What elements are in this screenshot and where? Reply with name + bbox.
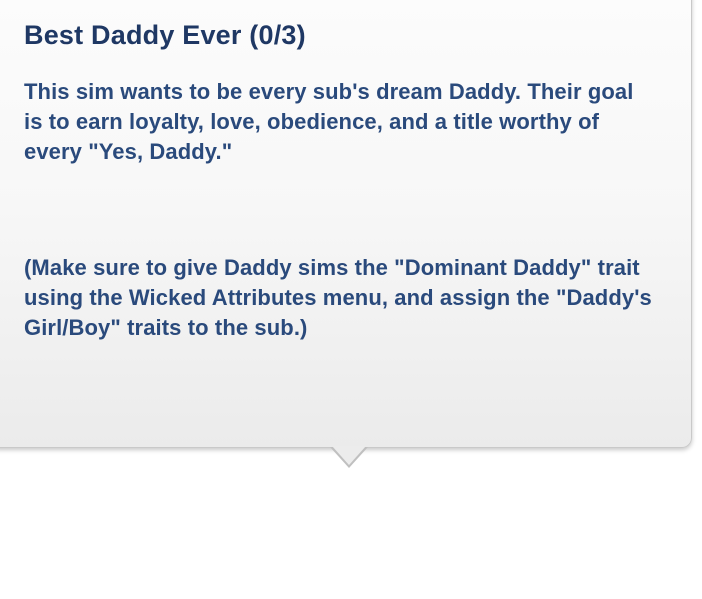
achievement-tooltip: Best Daddy Ever (0/3) This sim wants to … (0, 0, 692, 448)
tooltip-title: Best Daddy Ever (0/3) (24, 20, 657, 51)
tooltip-spacer (24, 167, 657, 253)
tooltip-description: This sim wants to be every sub's dream D… (24, 77, 657, 167)
tooltip-note: (Make sure to give Daddy sims the "Domin… (24, 253, 657, 343)
screen-root: Best Daddy Ever Best Daddy Ever (0/3) Th… (0, 0, 702, 599)
tooltip-pointer-down-inner (332, 446, 366, 465)
